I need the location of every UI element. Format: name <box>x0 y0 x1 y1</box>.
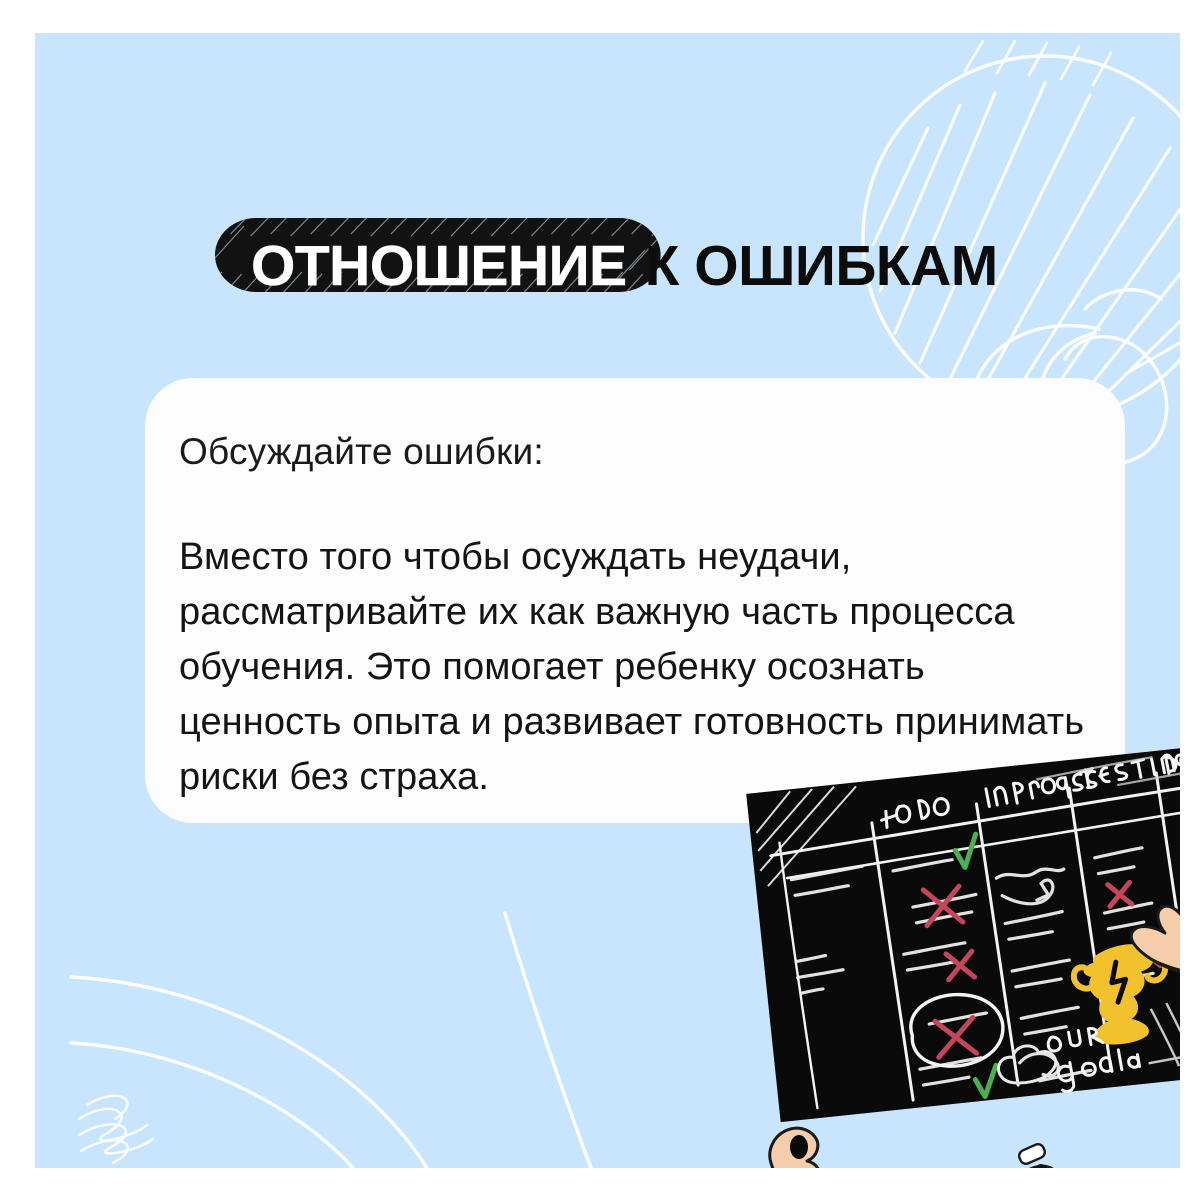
red-cross-marks <box>921 866 1167 1057</box>
card-body-text: Вместо того чтобы осуждать неудачи, расс… <box>179 530 1085 805</box>
arc-bottom-left <box>71 1043 353 1168</box>
slide-root: ОТНОШЕНИЕ К ОШИБКАМ Обсуждайте ошибки: В… <box>0 0 1200 1200</box>
content-card: Обсуждайте ошибки: Вместо того чтобы осу… <box>145 378 1125 823</box>
pointing-hand <box>1131 905 1180 983</box>
trophy-goal-label <box>1047 1021 1142 1093</box>
chalk-circle-highlight <box>908 990 1007 1070</box>
title-highlighted-word: ОТНОШЕНИЕ <box>251 234 627 298</box>
trophy-icon <box>1071 941 1172 1049</box>
column-header-done <box>1166 746 1180 774</box>
left-holding-hand <box>735 1128 820 1168</box>
chalk-hand <box>1004 1142 1068 1168</box>
chalk-task-lines <box>787 828 1180 1105</box>
blue-background-panel: ОТНОШЕНИЕ К ОШИБКАМ Обсуждайте ошибки: В… <box>35 33 1180 1168</box>
green-check-marks <box>950 810 1180 1097</box>
page-title: ОТНОШЕНИЕ К ОШИБКАМ <box>215 211 998 321</box>
title-rest-text: К ОШИБКАМ <box>645 211 998 321</box>
title-highlight: ОТНОШЕНИЕ <box>215 211 661 321</box>
scribble-bottom-left <box>79 1096 153 1163</box>
card-lead-text: Обсуждайте ошибки: <box>179 426 1085 478</box>
